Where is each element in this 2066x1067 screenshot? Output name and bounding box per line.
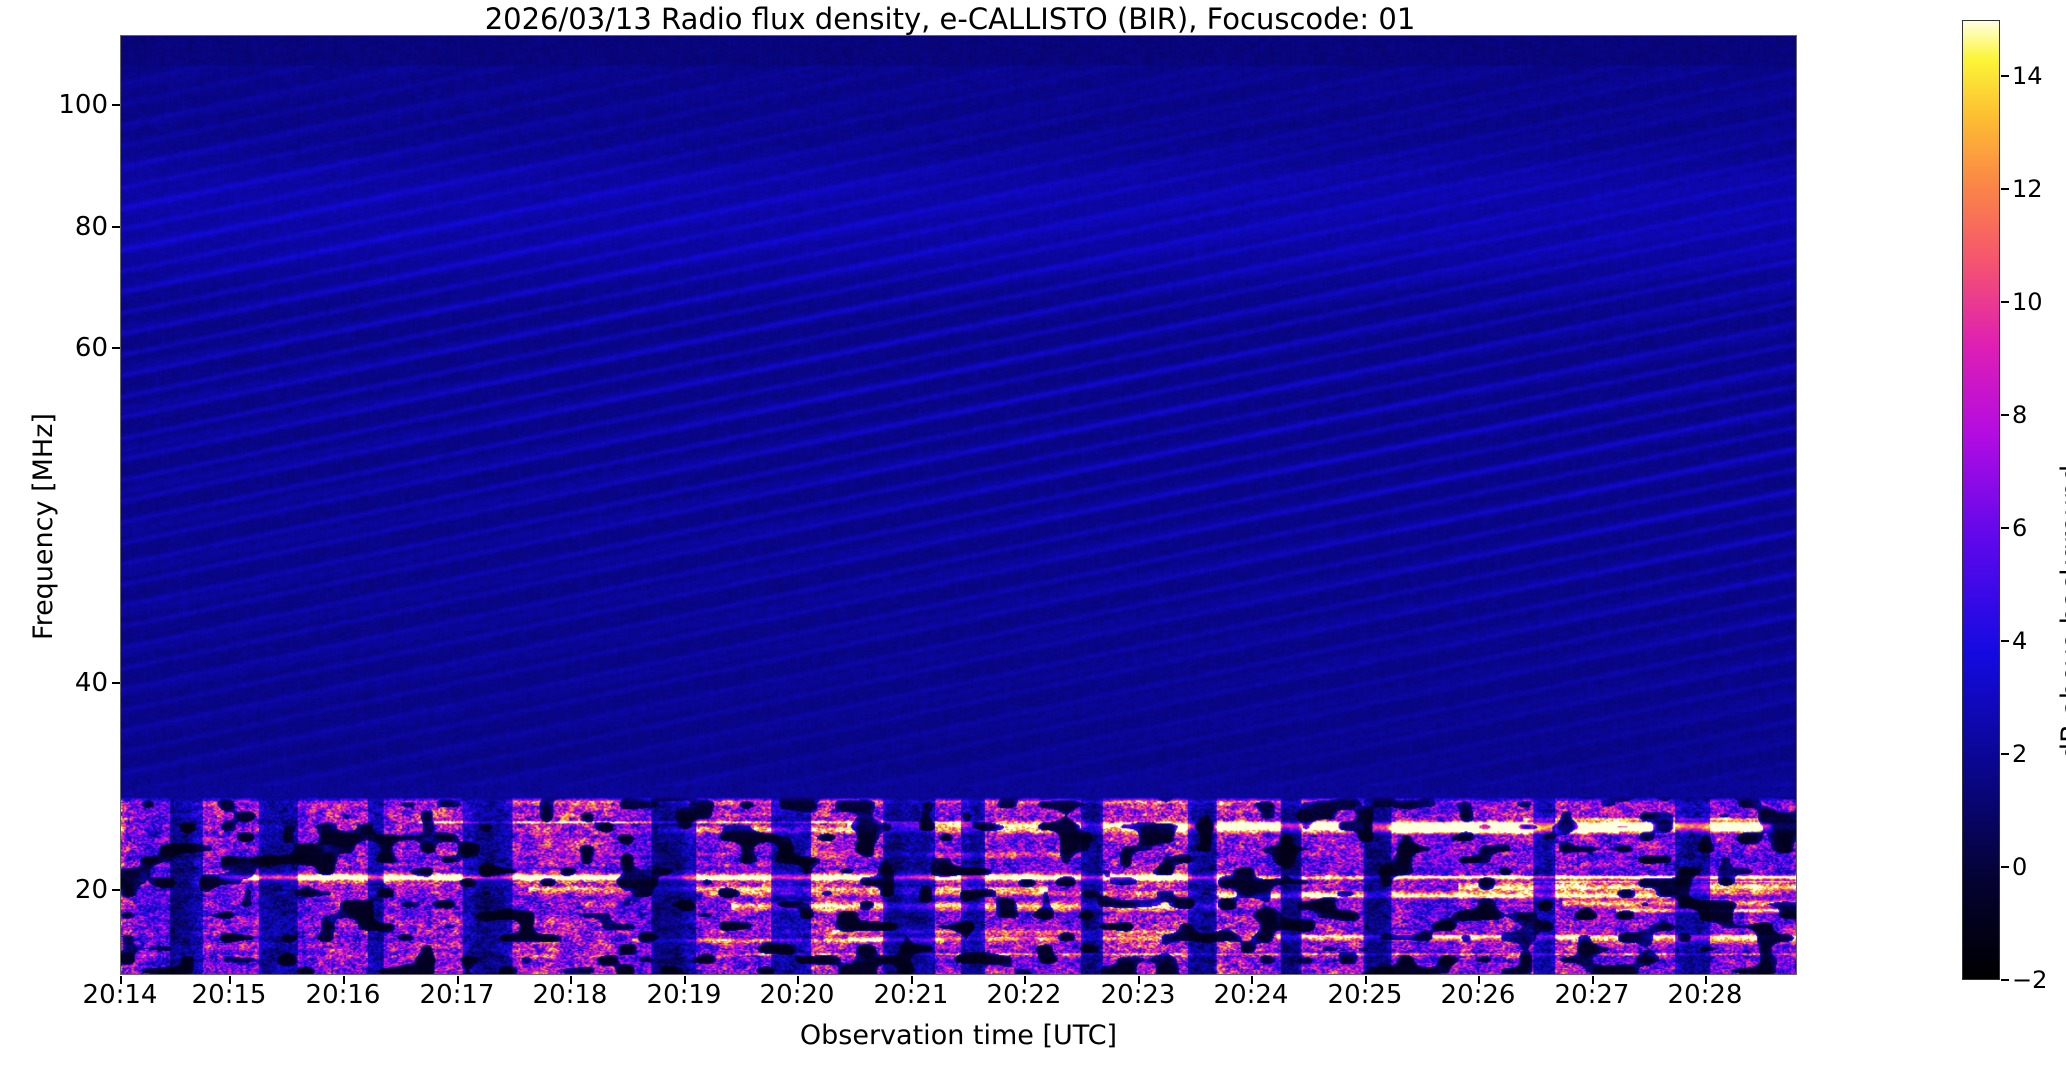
x-axis-tick-mark (343, 976, 345, 984)
x-axis-tick-mark (229, 976, 231, 984)
x-axis-tick-mark (1478, 976, 1480, 984)
spectrogram-figure: 2026/03/13 Radio flux density, e-CALLIST… (0, 0, 2066, 1067)
colorbar-tick-mark (2001, 640, 2009, 642)
x-axis-tick-mark (684, 976, 686, 984)
x-axis-tick-mark (457, 976, 459, 984)
colorbar-tick-mark (2001, 75, 2009, 77)
x-axis-tick-mark (570, 976, 572, 984)
y-axis-tick-mark (112, 889, 120, 891)
colorbar-tick-mark (2001, 188, 2009, 190)
y-axis-tick-label: 100 (38, 92, 108, 118)
y-axis-tick-label: 60 (38, 335, 108, 361)
x-axis-tick-mark (1251, 976, 1253, 984)
x-axis-tick-mark (1705, 976, 1707, 984)
y-axis-tick-label: 80 (38, 214, 108, 240)
colorbar-tick-mark (2001, 301, 2009, 303)
colorbar-gradient (1963, 21, 1999, 979)
x-axis-tick-mark (1365, 976, 1367, 984)
colorbar-tick-label: −2 (2012, 968, 2066, 992)
x-axis-label: Observation time [UTC] (120, 1020, 1797, 1051)
colorbar-tick-label: 0 (2012, 855, 2066, 879)
colorbar-tick-mark (2001, 979, 2009, 981)
x-axis-tick-mark (120, 976, 122, 984)
y-axis-label: Frequency [MHz] (28, 413, 59, 640)
spectrogram-canvas (121, 36, 1796, 974)
y-axis-tick-label: 20 (38, 877, 108, 903)
page-title: 2026/03/13 Radio flux density, e-CALLIST… (0, 2, 1900, 36)
x-axis-tick-mark (1138, 976, 1140, 984)
y-axis-tick-mark (112, 682, 120, 684)
colorbar-tick-label: 14 (2012, 64, 2066, 88)
colorbar-tick-label: 10 (2012, 290, 2066, 314)
spectrogram-plot-area (120, 35, 1797, 975)
x-axis-tick-mark (911, 976, 913, 984)
colorbar-tick-mark (2001, 527, 2009, 529)
y-axis-tick-mark (112, 347, 120, 349)
colorbar-tick-mark (2001, 866, 2009, 868)
colorbar-tick-label: 8 (2012, 403, 2066, 427)
x-axis-tick-label: 20:28 (1635, 981, 1775, 1009)
colorbar-label: dB above background (2056, 465, 2066, 760)
colorbar-tick-mark (2001, 414, 2009, 416)
colorbar (1962, 20, 2000, 980)
y-axis-tick-mark (112, 226, 120, 228)
colorbar-tick-label: 12 (2012, 177, 2066, 201)
x-axis-tick-mark (1592, 976, 1594, 984)
x-axis-tick-mark (797, 976, 799, 984)
y-axis-tick-label: 40 (38, 670, 108, 696)
x-axis-tick-mark (1024, 976, 1026, 984)
colorbar-tick-mark (2001, 753, 2009, 755)
y-axis-tick-mark (112, 104, 120, 106)
